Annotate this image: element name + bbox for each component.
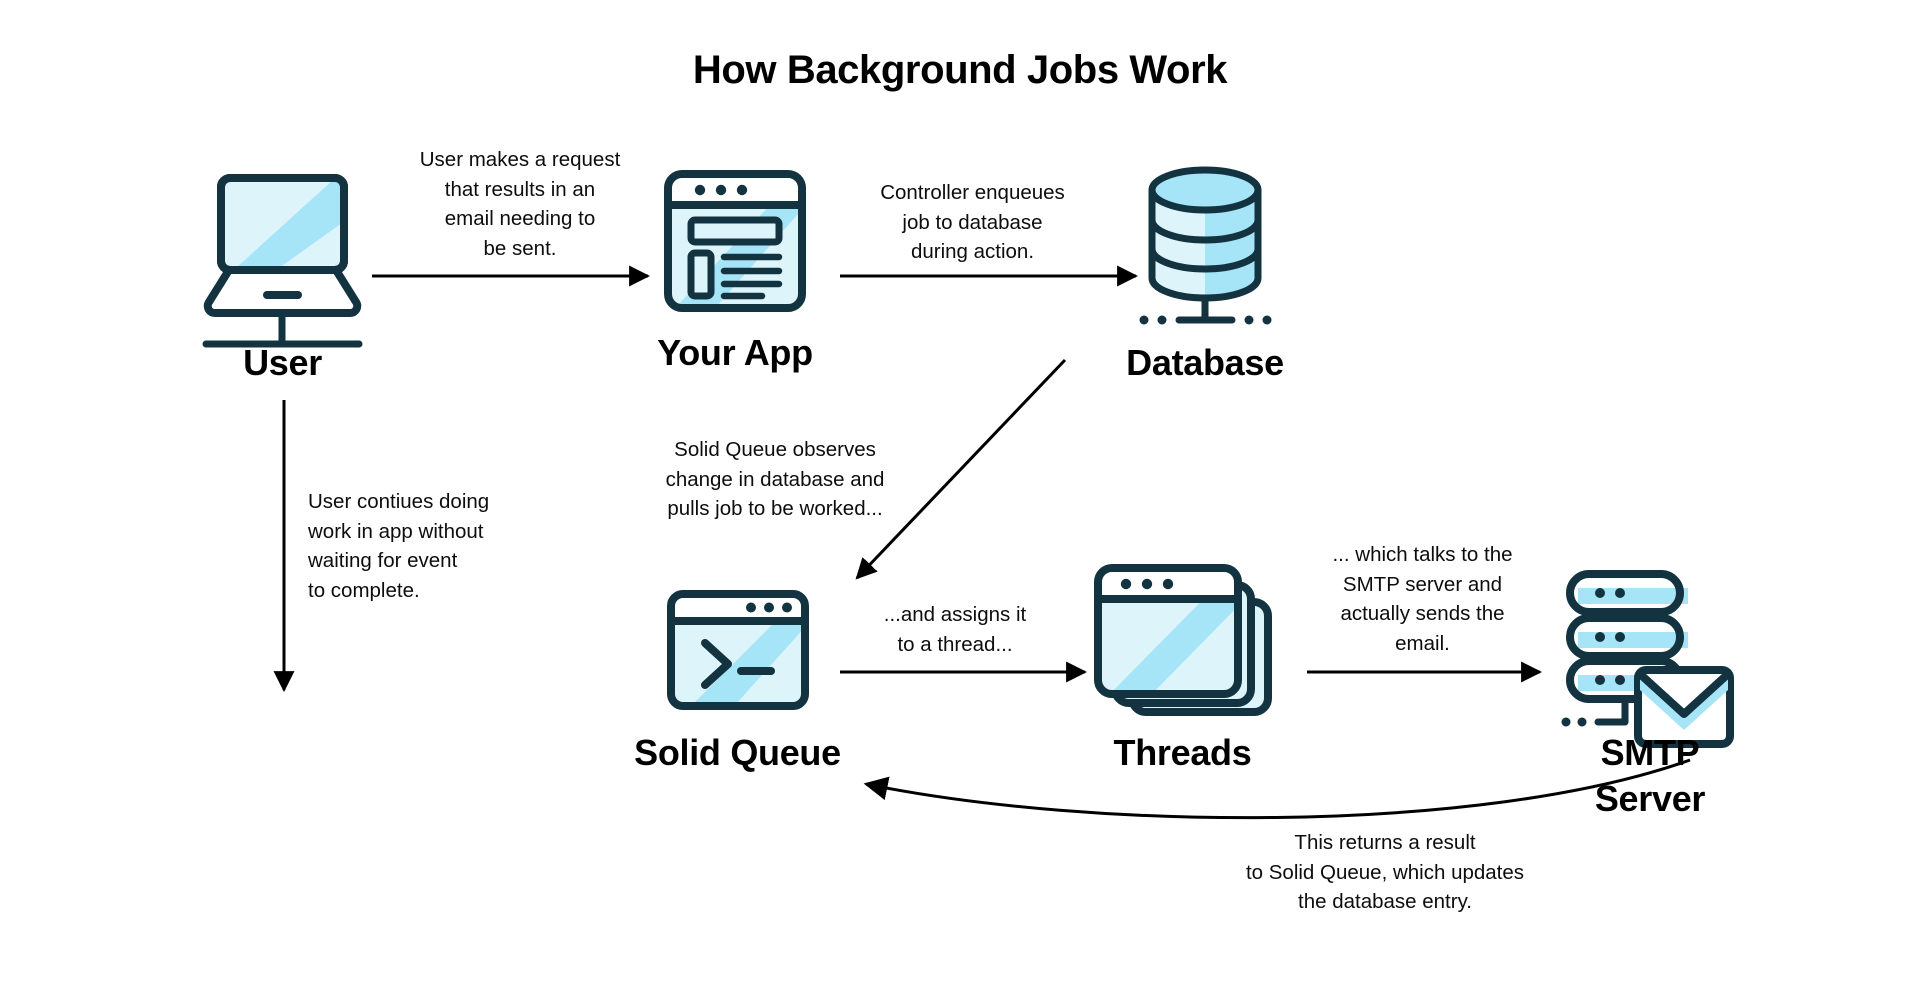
- icon-threads: [1092, 562, 1272, 717]
- laptop-icon: [206, 170, 360, 344]
- node-label-smtp: SMTP Server: [1535, 730, 1765, 822]
- database-cylinder-icon: [1140, 168, 1286, 325]
- node-label-your-app: Your App: [630, 330, 840, 376]
- icon-user: [205, 170, 360, 325]
- window-dot: [1121, 579, 1131, 589]
- window-dot: [716, 185, 726, 195]
- server-led: [1595, 675, 1605, 685]
- edge-label-user-continues: User contiues doing work in app without …: [308, 487, 538, 606]
- stacked-windows-icon: [1092, 562, 1268, 712]
- server-led: [1615, 588, 1625, 598]
- window-dot: [695, 185, 705, 195]
- node-label-solid-queue: Solid Queue: [605, 730, 870, 776]
- window-dot: [764, 603, 774, 613]
- server-led: [1615, 675, 1625, 685]
- edge-label-app-to-database: Controller enqueues job to database duri…: [860, 178, 1085, 267]
- window-dot: [737, 185, 747, 195]
- edge-label-queue-to-threads: ...and assigns it to a thread...: [855, 600, 1055, 659]
- browser-window-icon: [662, 168, 812, 316]
- node-label-threads: Threads: [1060, 730, 1305, 776]
- node-label-database: Database: [1080, 340, 1330, 386]
- server-led: [1615, 632, 1625, 642]
- window-dot: [1163, 579, 1173, 589]
- window-dot: [746, 603, 756, 613]
- edge-label-database-to-queue: Solid Queue observes change in database …: [650, 435, 900, 524]
- window-dot: [782, 603, 792, 613]
- page-title: How Background Jobs Work: [0, 48, 1920, 93]
- edge-label-smtp-to-queue: This returns a result to Solid Queue, wh…: [1225, 828, 1545, 917]
- terminal-window-icon: [665, 588, 815, 714]
- edge-label-user-to-app: User makes a request that results in an …: [395, 145, 645, 264]
- mail-server-icon: [1562, 574, 1731, 744]
- server-led: [1595, 588, 1605, 598]
- diagram-canvas: How Background Jobs Work: [0, 0, 1920, 1005]
- icon-database: [1128, 168, 1283, 323]
- window-dot: [1142, 579, 1152, 589]
- server-led: [1595, 632, 1605, 642]
- icon-your-app: [662, 168, 808, 314]
- node-label-user: User: [180, 340, 385, 386]
- icon-smtp-server: [1560, 562, 1735, 717]
- arrow-layer: [0, 0, 1920, 1005]
- edge-label-threads-to-smtp: ... which talks to the SMTP server and a…: [1315, 540, 1530, 659]
- icon-solid-queue: [665, 588, 811, 713]
